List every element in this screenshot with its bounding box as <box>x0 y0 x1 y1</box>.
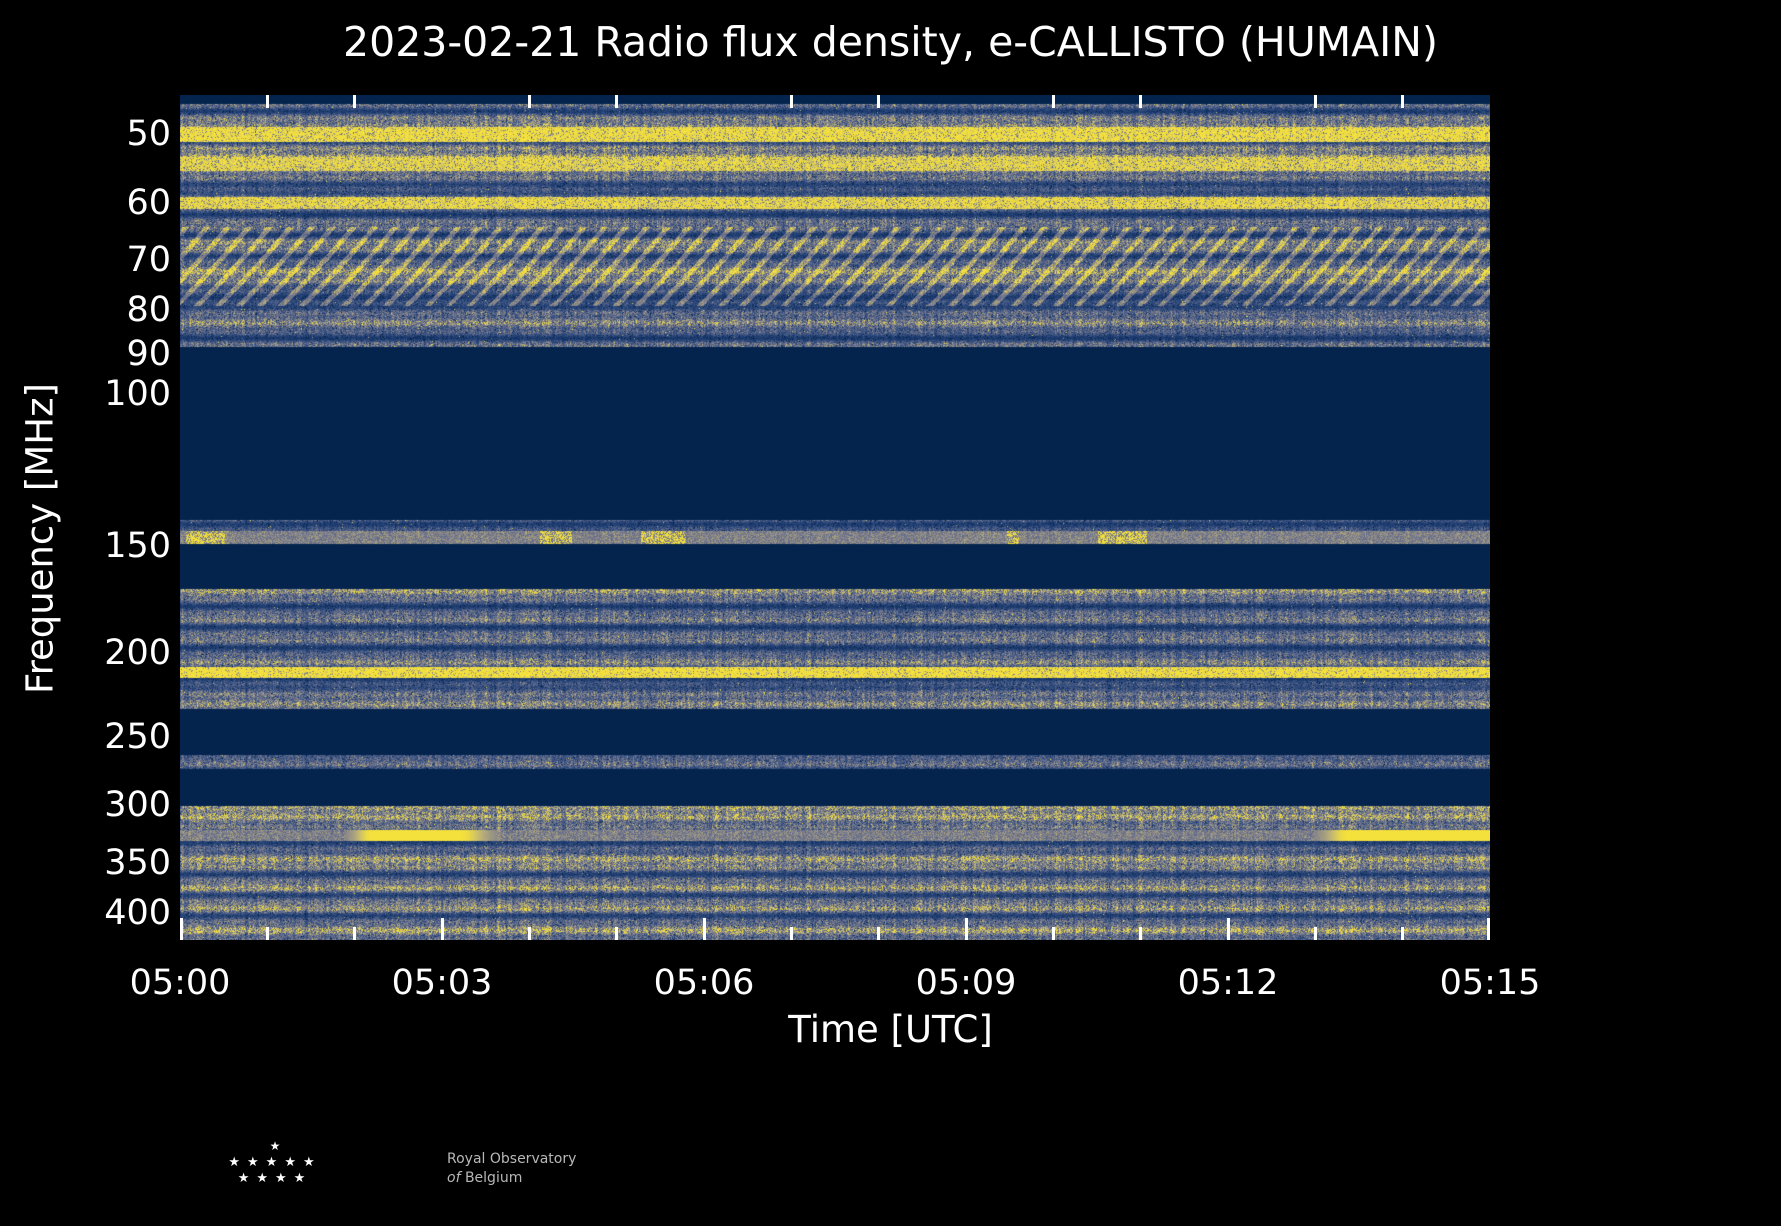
logo-star-row-middle: ★★★★★ <box>175 1156 375 1169</box>
x-axis-title: Time [UTC] <box>0 1008 1781 1051</box>
x-tick-major <box>965 918 968 940</box>
x-tick-minor-top <box>1314 95 1317 108</box>
x-axis-labels: 05:0005:0305:0605:0905:1205:15 <box>180 962 1490 1008</box>
x-tick-major <box>1227 918 1230 940</box>
y-tick-label: 200 <box>104 633 171 673</box>
y-tick-label: 90 <box>126 334 171 374</box>
y-tick-label: 70 <box>126 240 171 280</box>
x-tick-minor <box>790 927 793 940</box>
y-tick-label: 80 <box>126 290 171 330</box>
x-tick-label: 05:09 <box>916 963 1017 1003</box>
x-tick-minor <box>1401 927 1404 940</box>
y-tick-label: 60 <box>126 183 171 223</box>
y-tick-label: 100 <box>104 374 171 414</box>
x-tick-minor <box>877 927 880 940</box>
logo-star-row-bottom: ★★★★ <box>175 1172 375 1185</box>
logo-text-line1: Royal Observatory <box>447 1150 576 1169</box>
x-tick-minor <box>1314 927 1317 940</box>
x-tick-minor-top <box>266 95 269 108</box>
x-tick-label: 05:00 <box>130 963 231 1003</box>
logo-star-row-top: ★ <box>175 1140 375 1153</box>
figure-title: 2023-02-21 Radio flux density, e-CALLIST… <box>0 18 1781 66</box>
x-tick-minor-top <box>528 95 531 108</box>
x-tick-minor-top <box>615 95 618 108</box>
spectrogram-plot-area <box>180 95 1490 940</box>
logo-text-line2: Belgium <box>465 1170 522 1186</box>
x-tick-minor-top <box>790 95 793 108</box>
y-tick-label: 50 <box>126 114 171 154</box>
y-tick-label: 350 <box>104 843 171 883</box>
x-tick-label: 05:06 <box>654 963 755 1003</box>
y-tick-label: 300 <box>104 785 171 825</box>
logo-text: Royal Observatory of Belgium <box>447 1150 576 1188</box>
x-tick-major <box>180 918 183 940</box>
spectrogram-image <box>180 95 1490 940</box>
y-tick-label: 150 <box>104 526 171 566</box>
x-tick-label: 05:12 <box>1178 963 1279 1003</box>
y-tick-label: 400 <box>104 893 171 933</box>
logo-text-of: of <box>447 1170 461 1186</box>
x-tick-minor <box>615 927 618 940</box>
royal-observatory-logo: ★ ★★★★★ ★★★★ Royal Observatory of Belgiu… <box>175 1140 595 1202</box>
x-tick-minor <box>1139 927 1142 940</box>
x-tick-minor <box>1052 927 1055 940</box>
x-tick-major <box>441 918 444 940</box>
x-tick-minor-top <box>353 95 356 108</box>
x-tick-minor-top <box>877 95 880 108</box>
y-tick-label: 250 <box>104 717 171 757</box>
x-tick-minor <box>353 927 356 940</box>
x-tick-label: 05:03 <box>392 963 493 1003</box>
y-axis-title: Frequency [MHz] <box>19 329 62 749</box>
x-tick-minor-top <box>1139 95 1142 108</box>
spectrogram-figure: 2023-02-21 Radio flux density, e-CALLIST… <box>0 0 1781 1226</box>
x-tick-minor <box>266 927 269 940</box>
x-tick-label: 05:15 <box>1440 963 1541 1003</box>
x-tick-major <box>1487 918 1490 940</box>
x-tick-minor-top <box>1052 95 1055 108</box>
x-tick-minor <box>528 927 531 940</box>
x-tick-minor-top <box>1401 95 1404 108</box>
x-tick-major <box>703 918 706 940</box>
